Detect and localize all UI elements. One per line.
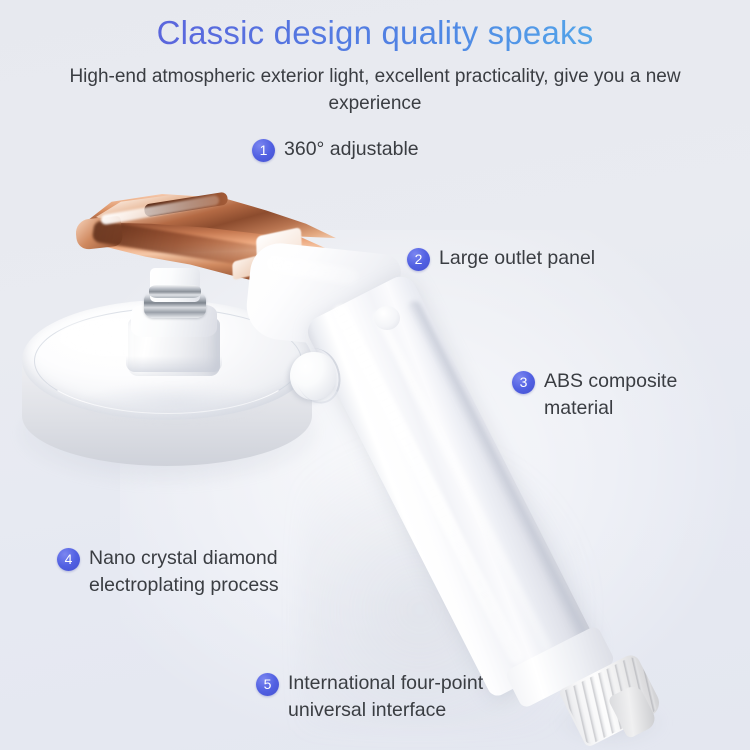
base-disc-rim	[34, 308, 302, 414]
white-collar	[131, 305, 217, 337]
neck-side-tab	[372, 301, 410, 336]
white-neck	[243, 240, 402, 351]
rose-gold-highlight-right	[256, 227, 302, 265]
threaded-outlet-shadow	[556, 700, 666, 746]
page-subtitle: High-end atmospheric exterior light, exc…	[50, 63, 700, 117]
rose-gold-highlight-primary	[100, 195, 220, 226]
feature-label-1: 360° adjustable	[284, 136, 419, 163]
feature-badge-2: 2	[407, 248, 430, 271]
handle-highlight-left	[331, 303, 526, 666]
page-title: Classic design quality speaks	[0, 14, 750, 52]
feature-item-3: 3 ABS composite material	[512, 368, 727, 422]
rose-gold-top-face	[86, 194, 336, 242]
white-neck-highlight	[265, 254, 358, 286]
feature-badge-1: 1	[252, 139, 275, 162]
hex-nut-bevel	[126, 356, 222, 372]
white-stem	[150, 268, 200, 302]
base-disc-shadow	[18, 380, 318, 485]
handle-edge-shadow	[405, 299, 605, 672]
feature-item-2: 2 Large outlet panel	[407, 245, 595, 272]
feature-badge-5: 5	[256, 673, 279, 696]
feature-badge-4: 4	[57, 548, 80, 571]
chrome-collar-ring	[144, 292, 206, 318]
base-disc-highlight	[58, 316, 208, 360]
feature-badge-3: 3	[512, 371, 535, 394]
rose-gold-spout-head	[78, 192, 358, 290]
feature-item-4: 4 Nano crystal diamond electroplating pr…	[57, 545, 337, 599]
threaded-outlet-grooves	[561, 654, 663, 746]
pivot-knob-ring	[289, 343, 347, 409]
threaded-outlet-tip	[607, 683, 658, 739]
rose-gold-outlet-slot	[144, 192, 229, 218]
chrome-stem-ring	[149, 285, 201, 298]
threaded-outlet	[558, 652, 664, 748]
rose-gold-left-lip	[75, 216, 124, 251]
base-disc-top	[22, 300, 312, 420]
base-disc-reflection	[86, 386, 266, 420]
feature-label-2: Large outlet panel	[439, 245, 595, 272]
feature-item-5: 5 International four-point universal int…	[256, 670, 536, 724]
rose-gold-shadow-edge	[92, 220, 303, 275]
handle-highlight-mid	[372, 310, 553, 653]
pivot-knob	[290, 352, 336, 400]
feature-item-1: 1 360° adjustable	[252, 136, 419, 163]
rose-gold-highlight-lower	[232, 254, 266, 281]
secondary-knob	[374, 306, 400, 330]
hex-nut	[128, 318, 220, 376]
product-feature-poster: Classic design quality speaks High-end a…	[0, 0, 750, 750]
feature-label-4: Nano crystal diamond electroplating proc…	[89, 545, 279, 599]
handle-body	[302, 271, 598, 699]
feature-label-3: ABS composite material	[544, 368, 677, 422]
feature-label-5: International four-point universal inter…	[288, 670, 483, 724]
base-disc-side	[22, 318, 312, 466]
